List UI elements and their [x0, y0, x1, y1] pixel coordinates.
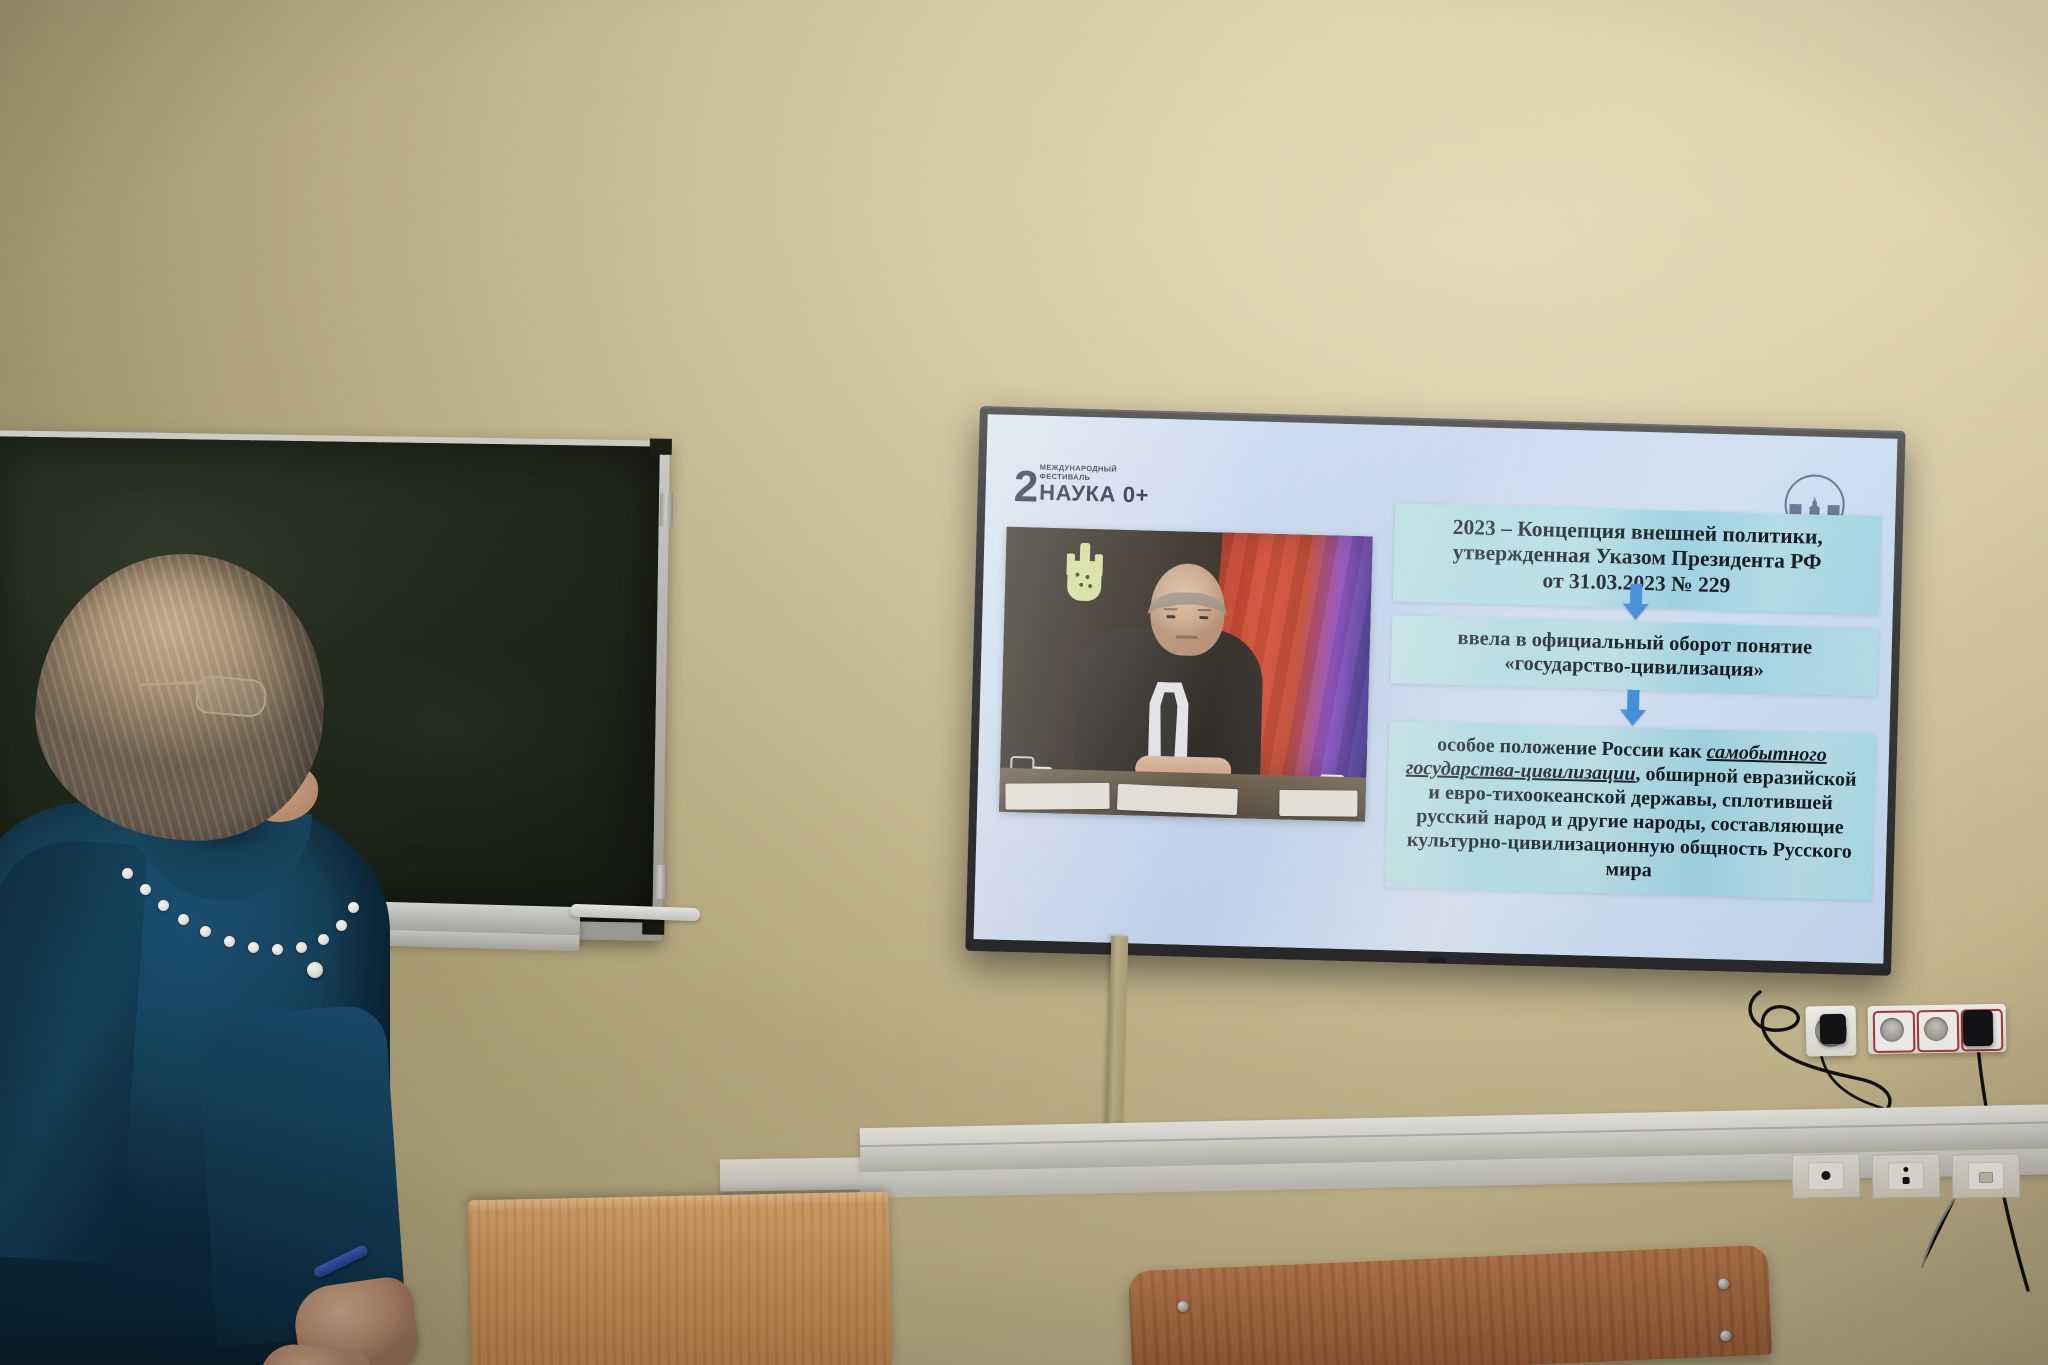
- photo-person-hair: [1147, 591, 1228, 635]
- classroom-desk: [468, 1192, 892, 1365]
- chalkboard-corner-bottom-right: [642, 918, 664, 934]
- tv-screen: 2 МЕЖДУНАРОДНЫЙ ФЕСТИВАЛЬ НАУКА 0+: [974, 414, 1898, 963]
- pearl-bead: [200, 926, 211, 937]
- port-faceplate: [1968, 1162, 2005, 1191]
- pearl-bead: [348, 902, 359, 913]
- slide-photo: [999, 527, 1373, 822]
- socket-cell: [1917, 1010, 1960, 1053]
- power-plug: [1963, 1010, 1994, 1047]
- festival-logo: 2 МЕЖДУНАРОДНЫЙ ФЕСТИВАЛЬ НАУКА 0+: [1013, 463, 1149, 508]
- down-arrow-icon: [1622, 603, 1648, 620]
- trunking-seam: [860, 1121, 2048, 1147]
- port-hole: [1821, 1171, 1830, 1180]
- festival-logo-wordmark: НАУКА 0+: [1039, 482, 1149, 507]
- slide-textbox-3: особое положение России как самобытного …: [1385, 721, 1875, 900]
- slide-textbox-2: ввела в официальный оборот понятие «госу…: [1391, 615, 1879, 696]
- pearl-bead: [224, 936, 235, 947]
- photo-person-head: [1149, 563, 1225, 657]
- pearl-pendant: [307, 962, 323, 978]
- photo-person-brow: [1164, 608, 1178, 610]
- glasses-lens: [195, 674, 268, 718]
- tv-ir-sensor: [1428, 957, 1446, 962]
- pearl-bead: [158, 900, 169, 911]
- socket-hole: [1880, 1018, 1904, 1042]
- photo-paper: [1005, 783, 1109, 810]
- festival-logo-mark: 2: [1013, 470, 1036, 505]
- data-port-2: [1872, 1153, 1941, 1198]
- desk-wood-grain: [468, 1192, 892, 1365]
- lecturer: [0, 540, 480, 1365]
- pearl-bead: [178, 914, 189, 925]
- socket-hole: [1924, 1017, 1948, 1041]
- port-faceplate: [1808, 1162, 1845, 1191]
- lecturer-pearl-necklace: [110, 858, 360, 978]
- crest-detail: [1073, 571, 1096, 594]
- data-port-1: [1792, 1153, 1861, 1198]
- pearl-bead: [248, 942, 259, 953]
- wall-television: 2 МЕЖДУНАРОДНЫЙ ФЕСТИВАЛЬ НАУКА 0+: [965, 406, 1905, 976]
- pearl-bead: [140, 884, 151, 895]
- presentation-slide: 2 МЕЖДУНАРОДНЫЙ ФЕСТИВАЛЬ НАУКА 0+: [974, 414, 1898, 963]
- down-arrow-icon: [1620, 709, 1646, 726]
- pearl-bead: [296, 942, 307, 953]
- port-hole: [1903, 1177, 1910, 1184]
- photo-scene: 2 МЕЖДУНАРОДНЫЙ ФЕСТИВАЛЬ НАУКА 0+: [0, 0, 2048, 1365]
- pearl-bead: [272, 944, 283, 955]
- arrow-stem: [1630, 584, 1643, 606]
- port-faceplate: [1888, 1162, 1925, 1191]
- photo-person-mouth: [1176, 635, 1198, 638]
- pearl-bead: [122, 868, 133, 879]
- photo-person-eye: [1199, 616, 1208, 619]
- port-hole: [1979, 1172, 1993, 1183]
- photo-paper: [1279, 790, 1357, 817]
- state-standard-crest-icon: [1051, 538, 1123, 612]
- photo-paper: [1117, 784, 1238, 815]
- pearl-bead: [318, 934, 329, 945]
- power-plug: [1820, 1014, 1847, 1044]
- arrow-stem: [1627, 690, 1640, 712]
- pearl-bead: [336, 920, 347, 931]
- socket-cell: [1873, 1010, 1916, 1053]
- photo-person-eye: [1166, 615, 1175, 618]
- photo-person-brow: [1198, 609, 1212, 611]
- chalkboard-clip-top: [660, 493, 674, 527]
- port-hole: [1903, 1167, 1908, 1172]
- chalkboard-corner-top-right: [650, 439, 672, 455]
- chalkboard-clip-bottom: [654, 865, 668, 899]
- data-port-3: [1952, 1153, 2021, 1198]
